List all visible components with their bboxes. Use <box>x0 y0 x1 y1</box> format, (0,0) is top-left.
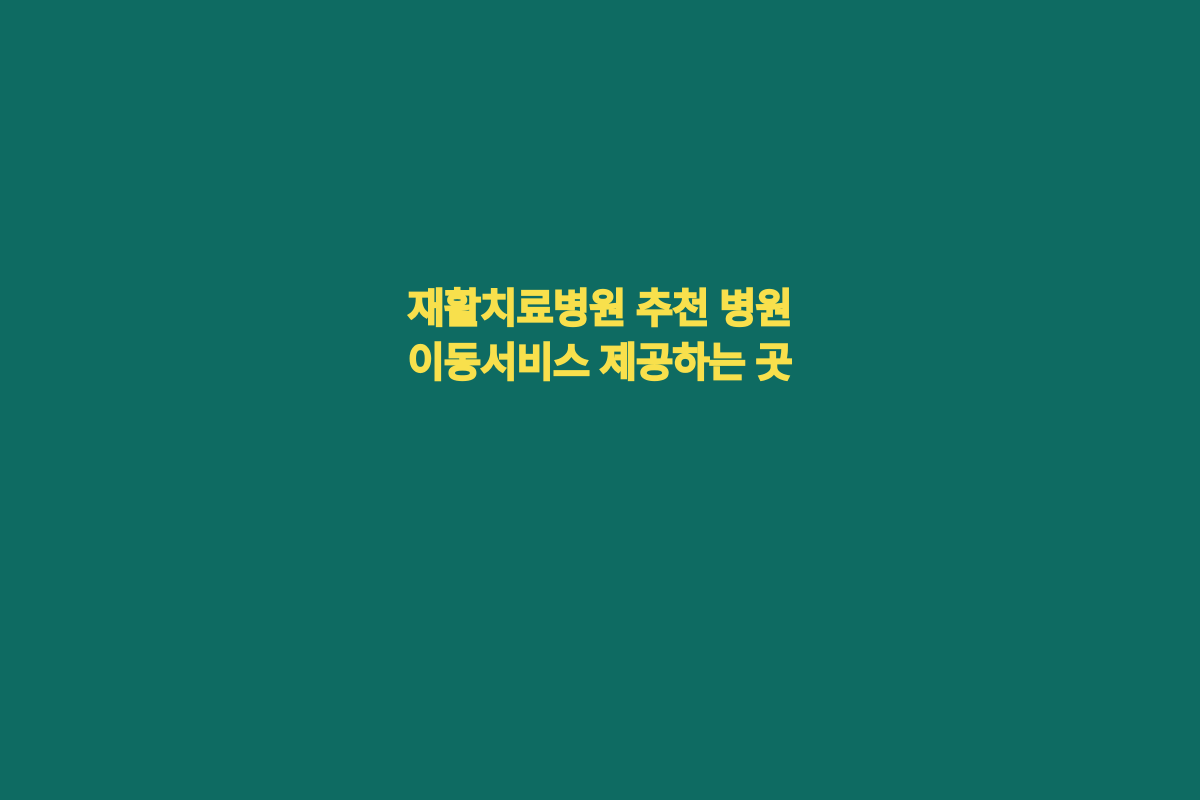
text-banner: 재활치료병원 추천 병원 이동서비스 제공하는 곳 <box>0 0 1200 800</box>
headline-block: 재활치료병원 추천 병원 이동서비스 제공하는 곳 <box>0 282 1200 391</box>
headline-line-2: 이동서비스 제공하는 곳 <box>40 336 1160 390</box>
headline-line-1: 재활치료병원 추천 병원 <box>40 282 1160 336</box>
